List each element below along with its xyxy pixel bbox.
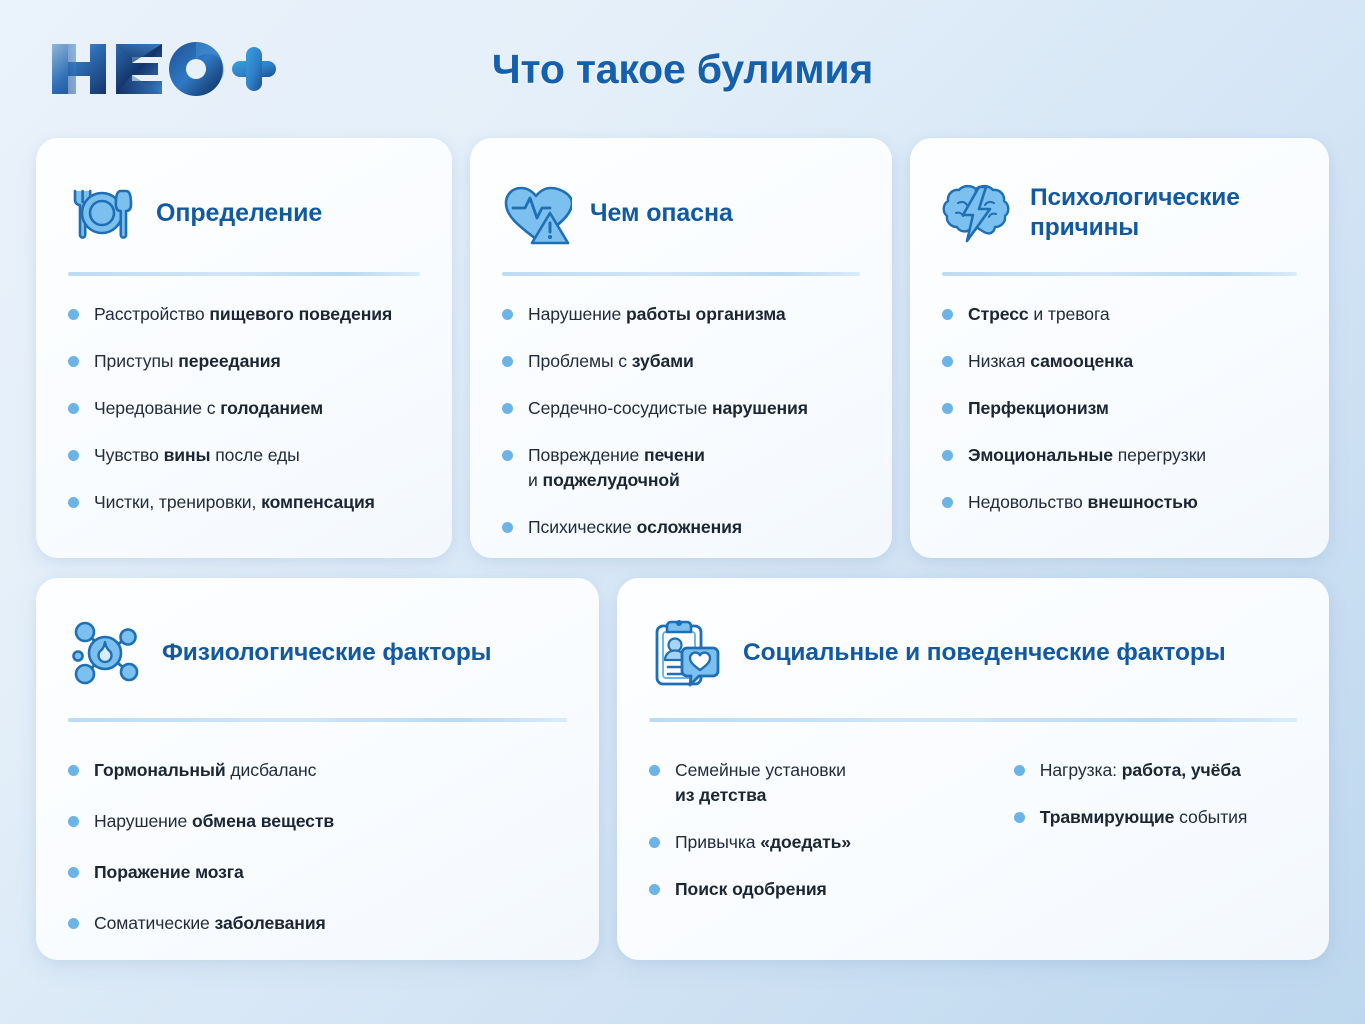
card-divider	[942, 272, 1297, 276]
card-header: Психологические причины	[940, 170, 1299, 256]
list-item: Нарушение работы организма	[500, 302, 862, 327]
list-item: Эмоциональные перегрузки	[940, 443, 1299, 468]
bullet-text-bold: голоданием	[220, 398, 323, 418]
bullet-text-bold: переедания	[178, 351, 280, 371]
bullet-text-plain: Нагрузка:	[1040, 760, 1122, 780]
card-header: Социальные и поведенческие факторы	[647, 610, 1299, 696]
list-item: Поражение мозга	[66, 860, 569, 885]
bullet-text-plain: Проблемы с	[528, 351, 632, 371]
bullet-text-bold: пищевого поведения	[209, 304, 392, 324]
list-item: Психические осложнения	[500, 515, 862, 540]
list-item: Проблемы с зубами	[500, 349, 862, 374]
list-item: Поиск одобрения	[647, 877, 992, 902]
bullet-text-plain: Низкая	[968, 351, 1030, 371]
list-item: Гормональный дисбаланс	[66, 758, 569, 783]
bullet-list: Гормональный дисбаланс Нарушение обмена …	[66, 758, 569, 936]
bullet-text-bold: «доедать»	[760, 832, 851, 852]
bullet-text-bold: Поражение мозга	[94, 862, 244, 882]
list-item: Расстройство пищевого поведения	[66, 302, 422, 327]
bullet-text-bold: работа, учёба	[1122, 760, 1241, 780]
card-header: Физиологические факторы	[66, 610, 569, 696]
list-item: Стресс и тревога	[940, 302, 1299, 327]
bullet-text-bold: заболевания	[215, 913, 326, 933]
card-definition: Определение Расстройство пищевого поведе…	[36, 138, 452, 558]
bullet-text-plain: Семейные установки	[675, 760, 846, 780]
card-title: Чем опасна	[590, 198, 733, 229]
bullet-text-plain: Приступы	[94, 351, 178, 371]
list-item: Недовольство внешностью	[940, 490, 1299, 515]
list-item: Нарушение обмена веществ	[66, 809, 569, 834]
bullet-text-bold: компенсация	[261, 492, 375, 512]
bullet-text-plain-line2: и	[528, 470, 543, 490]
cards-row-1: Определение Расстройство пищевого поведе…	[36, 138, 1329, 558]
bullet-text-bold: нарушения	[712, 398, 808, 418]
bullet-text-tail: события	[1174, 807, 1247, 827]
list-item: Травмирующие события	[1012, 805, 1299, 830]
bullet-text-tail: и тревога	[1029, 304, 1110, 324]
bullet-list: Нарушение работы организма Проблемы с зу…	[500, 302, 862, 540]
card-divider	[502, 272, 860, 276]
bullet-text-bold: работы организма	[626, 304, 786, 324]
bullet-text-plain: Повреждение	[528, 445, 644, 465]
bullet-text-bold: самооценка	[1030, 351, 1133, 371]
molecule-hormone-icon	[66, 614, 144, 692]
list-item: Чистки, тренировки, компенсация	[66, 490, 422, 515]
list-item: Нагрузка: работа, учёба	[1012, 758, 1299, 783]
bullet-text-tail: дисбаланс	[226, 760, 317, 780]
bullet-text-bold-line2: из детства	[675, 785, 766, 805]
list-item: Приступы переедания	[66, 349, 422, 374]
card-title: Социальные и поведенческие факторы	[743, 638, 1226, 668]
bullet-text-bold: Травмирующие	[1040, 807, 1175, 827]
bullet-list: Стресс и тревога Низкая самооценка Перфе…	[940, 302, 1299, 515]
card-header: Определение	[66, 170, 422, 256]
cards-board: Определение Расстройство пищевого поведе…	[0, 138, 1365, 960]
heart-pulse-warning-icon	[500, 177, 572, 249]
neo-plus-logo	[46, 38, 278, 100]
bullet-text-plain: Сердечно-сосудистые	[528, 398, 712, 418]
card-title: Физиологические факторы	[162, 638, 492, 668]
list-item: Перфекционизм	[940, 396, 1299, 421]
bullet-text-plain: Недовольство	[968, 492, 1088, 512]
bullet-text-tail: после еды	[210, 445, 299, 465]
bullet-text-bold: внешностью	[1088, 492, 1198, 512]
bullet-text-plain: Привычка	[675, 832, 760, 852]
list-item: Повреждение печении поджелудочной	[500, 443, 862, 493]
bullet-text-plain: Нарушение	[94, 811, 192, 831]
cards-row-2: Физиологические факторы Гормональный дис…	[36, 578, 1329, 960]
bullet-text-plain: Психические	[528, 517, 637, 537]
bullet-text-bold: осложнения	[637, 517, 742, 537]
bullet-text-plain: Нарушение	[528, 304, 626, 324]
list-item: Привычка «доедать»	[647, 830, 992, 855]
clipboard-person-heart-icon	[647, 614, 725, 692]
bullet-text-bold: Перфекционизм	[968, 398, 1109, 418]
two-column-bullets: Семейные установкииз детства Привычка «д…	[647, 758, 1299, 902]
card-social-behavioral-factors: Социальные и поведенческие факторы Семей…	[617, 578, 1329, 960]
card-dangers: Чем опасна Нарушение работы организма Пр…	[470, 138, 892, 558]
bullet-text-bold: обмена веществ	[192, 811, 334, 831]
card-divider	[68, 272, 420, 276]
card-title: Определение	[156, 198, 322, 229]
bullet-text-plain: Чувство	[94, 445, 164, 465]
plate-fork-knife-icon	[66, 177, 138, 249]
list-item: Соматические заболевания	[66, 911, 569, 936]
bullet-text-plain: Чистки, тренировки,	[94, 492, 261, 512]
list-item: Низкая самооценка	[940, 349, 1299, 374]
bullet-text-bold: зубами	[632, 351, 694, 371]
bullet-text-plain: Соматические	[94, 913, 215, 933]
bullet-text-bold: печени	[644, 445, 705, 465]
bullet-text-plain: Чередование с	[94, 398, 220, 418]
card-title: Психологические причины	[1030, 183, 1299, 244]
card-divider	[649, 718, 1297, 722]
bullet-text-bold-line2: поджелудочной	[543, 470, 680, 490]
card-header: Чем опасна	[500, 170, 862, 256]
bullet-text-tail: перегрузки	[1113, 445, 1206, 465]
bullet-text-bold: Гормональный	[94, 760, 226, 780]
card-psychological-causes: Психологические причины Стресс и тревога…	[910, 138, 1329, 558]
bullet-text-bold: Стресс	[968, 304, 1029, 324]
bullet-text-bold: Эмоциональные	[968, 445, 1113, 465]
bullet-text-bold: вины	[164, 445, 211, 465]
list-item: Сердечно-сосудистые нарушения	[500, 396, 862, 421]
bullet-list-right: Нагрузка: работа, учёба Травмирующие соб…	[1012, 758, 1299, 902]
brain-lightning-icon	[940, 177, 1012, 249]
list-item: Семейные установкииз детства	[647, 758, 992, 808]
list-item: Чувство вины после еды	[66, 443, 422, 468]
page-header: Что такое булимия	[0, 0, 1365, 138]
card-divider	[68, 718, 567, 722]
bullet-text-plain: Расстройство	[94, 304, 209, 324]
bullet-text-bold: Поиск одобрения	[675, 879, 827, 899]
bullet-list: Расстройство пищевого поведения Приступы…	[66, 302, 422, 515]
card-physiological-factors: Физиологические факторы Гормональный дис…	[36, 578, 599, 960]
list-item: Чередование с голоданием	[66, 396, 422, 421]
bullet-list-left: Семейные установкииз детства Привычка «д…	[647, 758, 992, 902]
